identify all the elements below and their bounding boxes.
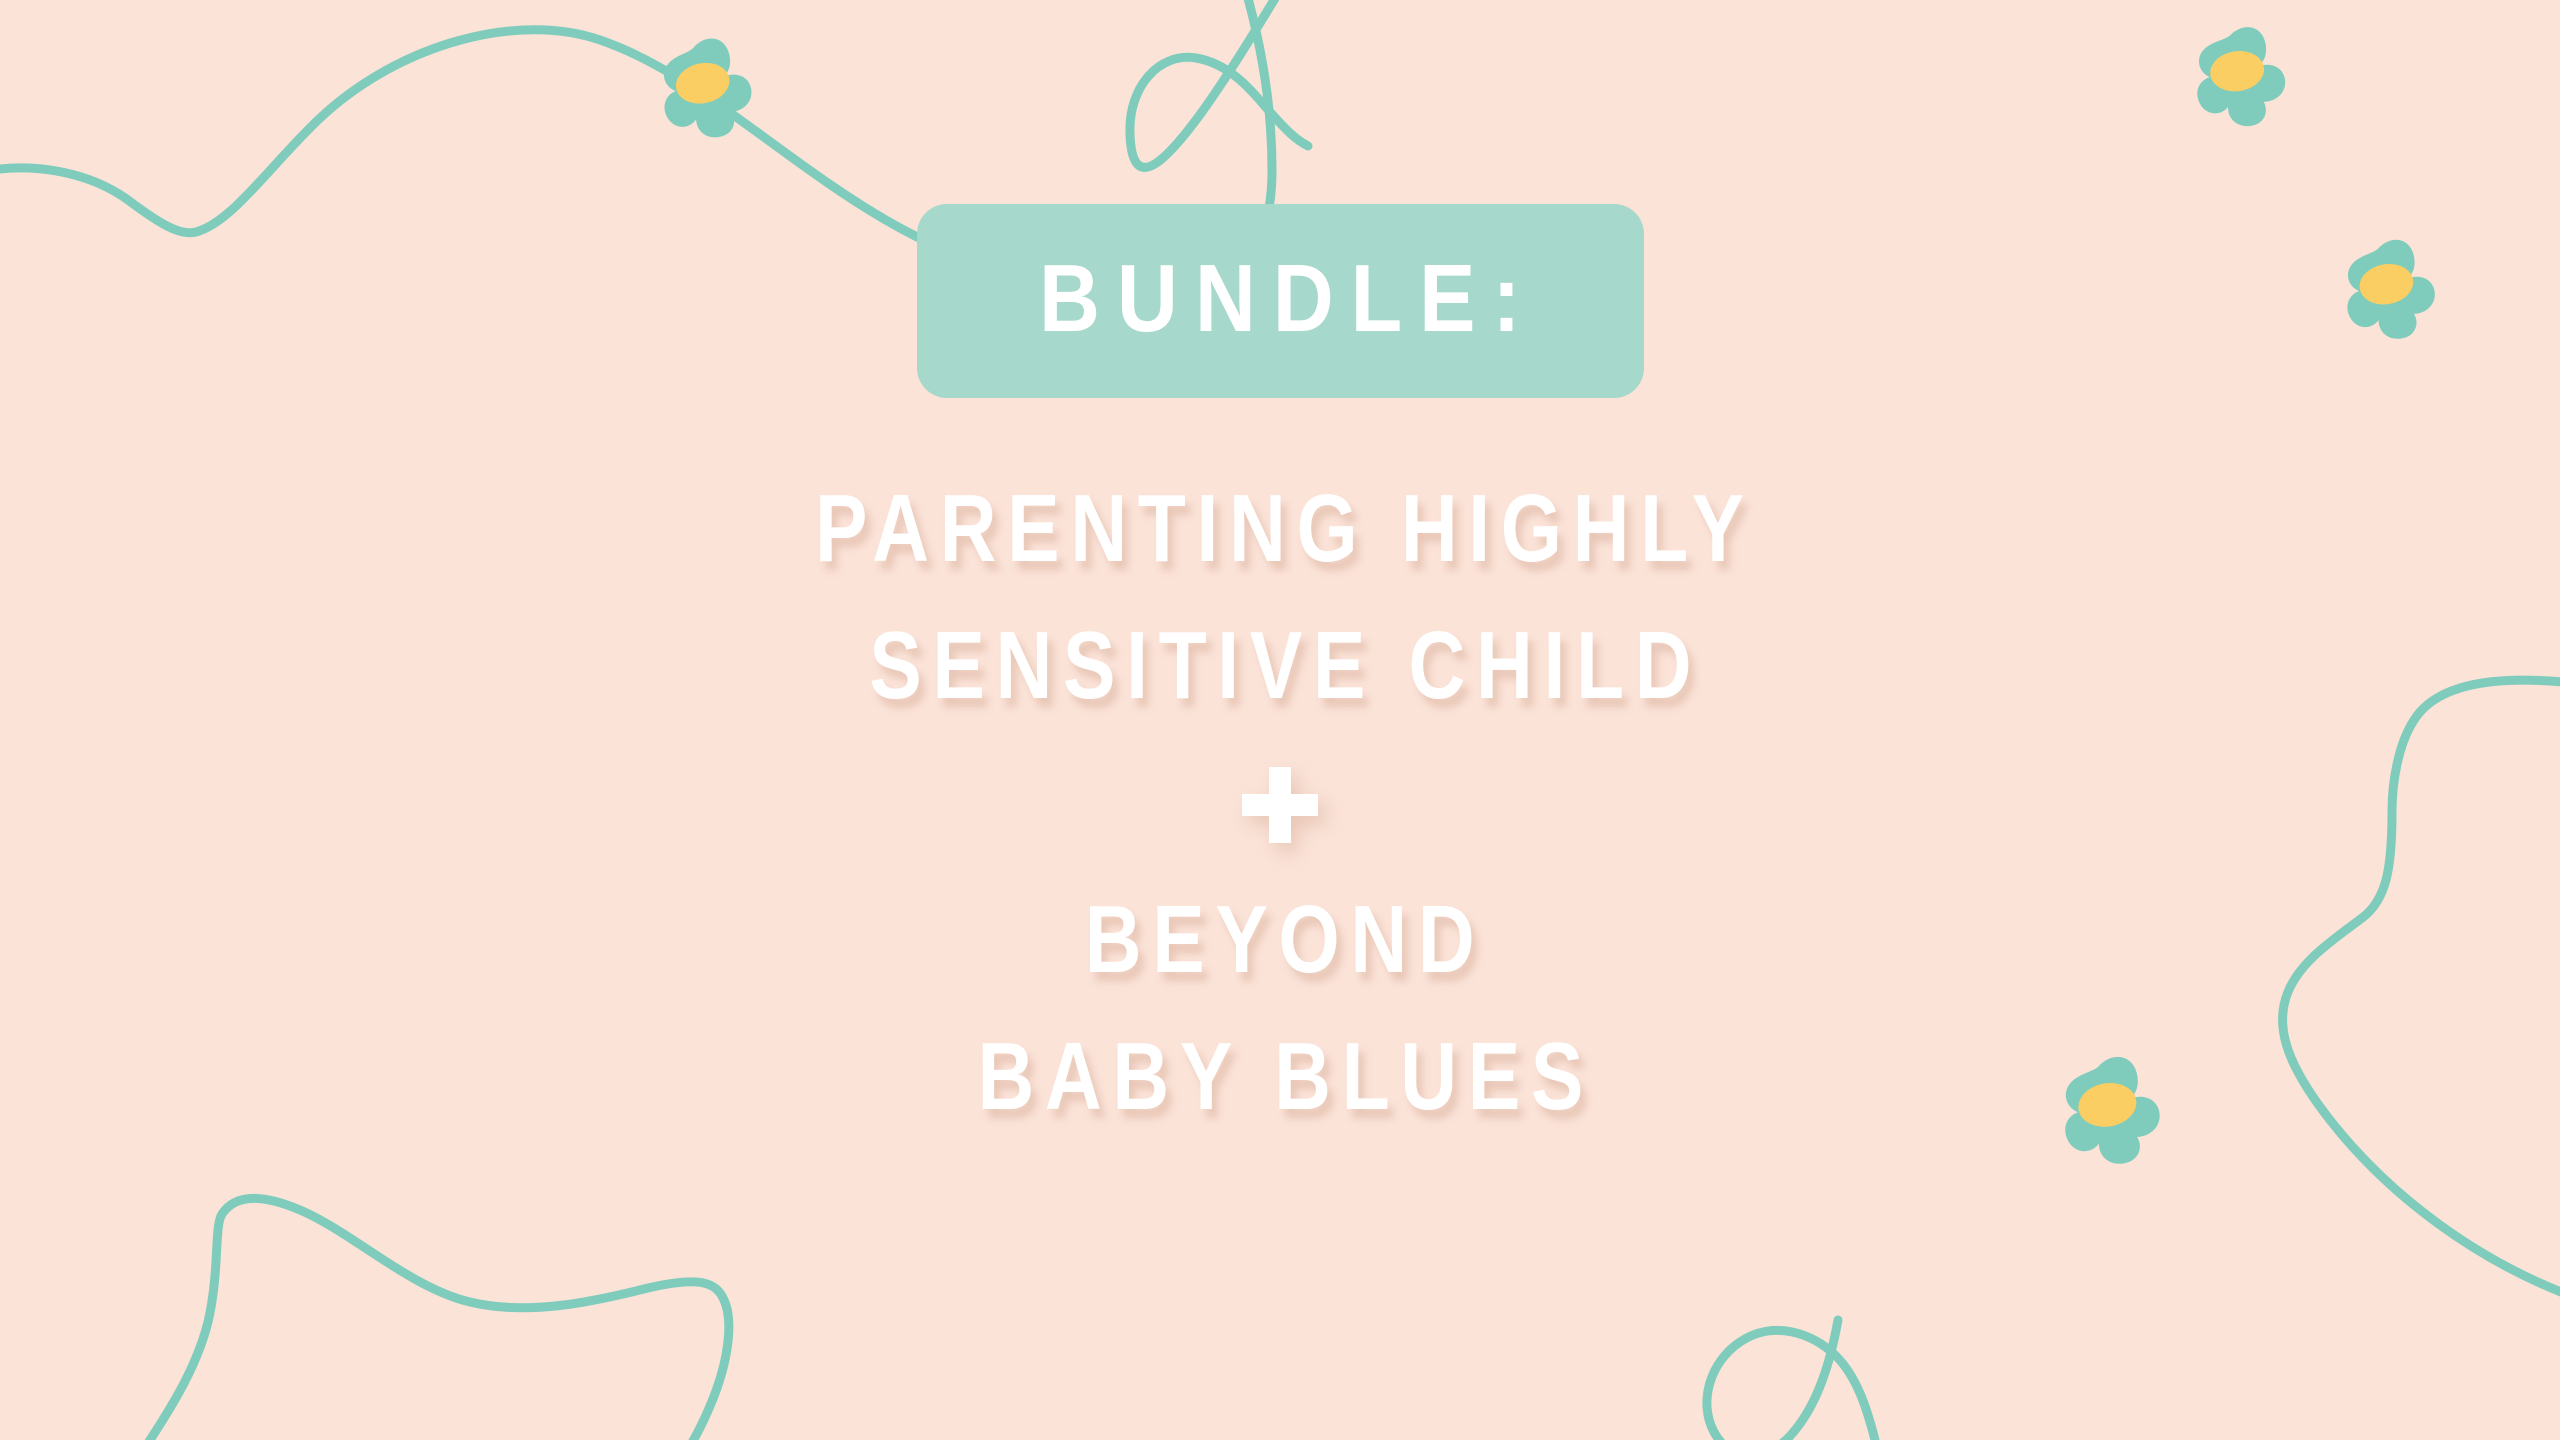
primary-title: PARENTING HIGHLY SENSITIVE CHILD	[700, 460, 1859, 735]
promo-content: BUNDLE: PARENTING HIGHLY SENSITIVE CHILD…	[0, 0, 2560, 1440]
secondary-title: BEYOND BABY BLUES	[898, 871, 1663, 1146]
secondary-title-line-1: BEYOND	[1074, 871, 1485, 1008]
primary-title-line-1: PARENTING HIGHLY	[805, 460, 1755, 597]
bundle-badge: BUNDLE:	[917, 204, 1644, 398]
primary-title-line-2: SENSITIVE CHILD	[858, 597, 1702, 734]
promo-canvas: BUNDLE: PARENTING HIGHLY SENSITIVE CHILD…	[0, 0, 2560, 1440]
plus-icon	[1242, 767, 1318, 843]
bundle-badge-label: BUNDLE:	[1022, 251, 1537, 347]
plus-separator	[1242, 767, 1318, 843]
secondary-title-line-2: BABY BLUES	[966, 1008, 1593, 1145]
